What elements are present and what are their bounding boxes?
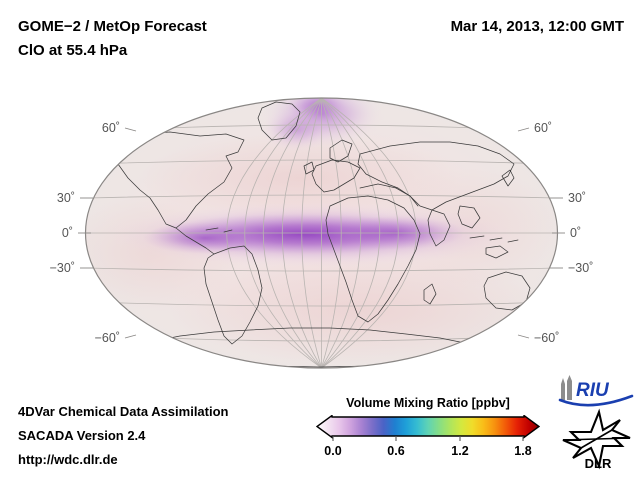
world-map-panel: 60˚ 30˚ 0˚ −30˚ −60˚ 60˚ 30˚ 0˚ −30˚ −60…	[0, 78, 640, 390]
lat-label-right-0: 0˚	[570, 226, 581, 240]
lat-label-right-60: 60˚	[534, 121, 552, 135]
lat-label-right-m60: −60˚	[534, 331, 559, 345]
lat-label-left-0: 0˚	[62, 226, 73, 240]
lat-label-left-30: 30˚	[57, 191, 75, 205]
lat-label-left-m30: −30˚	[50, 261, 75, 275]
colorbar-title: Volume Mixing Ratio [ppbv]	[316, 396, 540, 410]
riu-towers-icon	[561, 375, 572, 400]
lat-label-left-m60: −60˚	[95, 331, 120, 345]
footer-url-link[interactable]: http://wdc.dlr.de	[18, 451, 118, 469]
lat-label-right-30: 30˚	[568, 191, 586, 205]
lat-label-right-m30: −30˚	[568, 261, 593, 275]
colorbar-tick-0: 0.0	[324, 444, 341, 458]
dlr-wordmark: DLR	[585, 456, 612, 470]
lat-label-left-60: 60˚	[102, 121, 120, 135]
page-title: GOME−2 / MetOp Forecast	[18, 16, 207, 38]
colorbar-tick-2: 1.2	[451, 444, 468, 458]
clo-field	[55, 80, 565, 366]
footer-version-line: SACADA Version 2.4	[18, 427, 145, 445]
colorbar-tick-3: 1.8	[514, 444, 531, 458]
page-subtitle: ClO at 55.4 hPa	[18, 40, 127, 62]
mollweide-map: 60˚ 30˚ 0˚ −30˚ −60˚ 60˚ 30˚ 0˚ −30˚ −60…	[0, 78, 640, 390]
forecast-timestamp: Mar 14, 2013, 12:00 GMT	[451, 16, 624, 38]
colorbar: Volume Mixing Ratio [ppbv]	[316, 396, 540, 468]
riu-logo: RIU	[556, 374, 636, 408]
colorbar-gradient	[316, 415, 540, 441]
riu-wordmark: RIU	[576, 380, 610, 401]
colorbar-tick-labels: 0.0 0.6 1.2 1.8	[316, 444, 540, 462]
footer-project-line: 4DVar Chemical Data Assimilation	[18, 403, 229, 421]
dlr-logo: DLR	[558, 408, 638, 470]
colorbar-tick-1: 0.6	[387, 444, 404, 458]
